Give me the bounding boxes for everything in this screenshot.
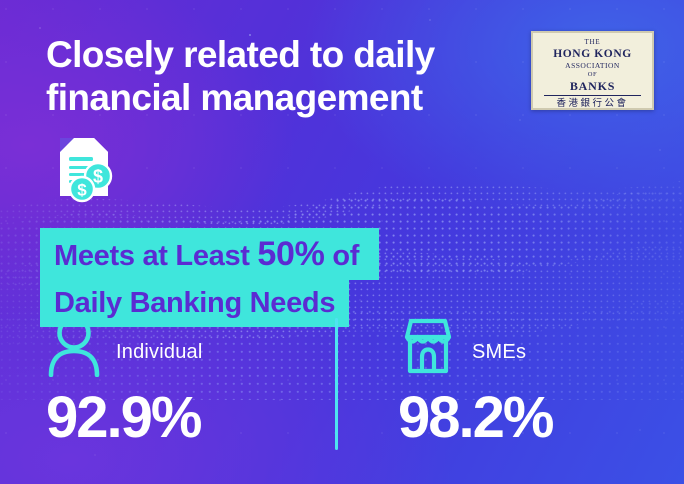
logo-of: OF [537, 71, 648, 79]
banner-line-1-highlight: 50% [257, 235, 324, 273]
stat-individual: Individual 92.9% [46, 313, 203, 447]
logo-chinese-name: 香港銀行公會 [537, 98, 648, 109]
banner-line-1-post: of [325, 240, 360, 272]
headline-line-2: financial management [46, 77, 516, 120]
stat-smes: SMEs 98.2% [398, 313, 552, 447]
section-divider [335, 318, 338, 450]
svg-text:$: $ [77, 181, 87, 200]
page-title: Closely related to daily financial manag… [46, 34, 516, 120]
headline-line-1: Closely related to daily [46, 34, 516, 77]
logo-the: THE [537, 38, 648, 47]
logo-divider [544, 95, 641, 96]
person-icon [46, 315, 102, 377]
document-with-coins-icon: $ $ [46, 134, 118, 204]
stat-smes-value: 98.2% [398, 389, 552, 447]
hkab-logo: THE HONG KONG ASSOCIATION OF BANKS 香港銀行公… [531, 31, 654, 110]
stat-individual-value: 92.9% [46, 389, 203, 447]
svg-text:$: $ [93, 167, 103, 187]
shop-icon [398, 315, 458, 377]
stat-individual-label: Individual [116, 341, 203, 364]
stat-smes-label: SMEs [472, 341, 526, 364]
logo-association: ASSOCIATION [537, 61, 648, 71]
banner-line-1-pre: Meets at Least [54, 240, 257, 272]
banner-line-1: Meets at Least 50% of [40, 228, 379, 280]
logo-hong-kong: HONG KONG [537, 47, 648, 61]
infographic-canvas: Closely related to daily financial manag… [0, 0, 684, 484]
logo-banks: BANKS [537, 79, 648, 93]
